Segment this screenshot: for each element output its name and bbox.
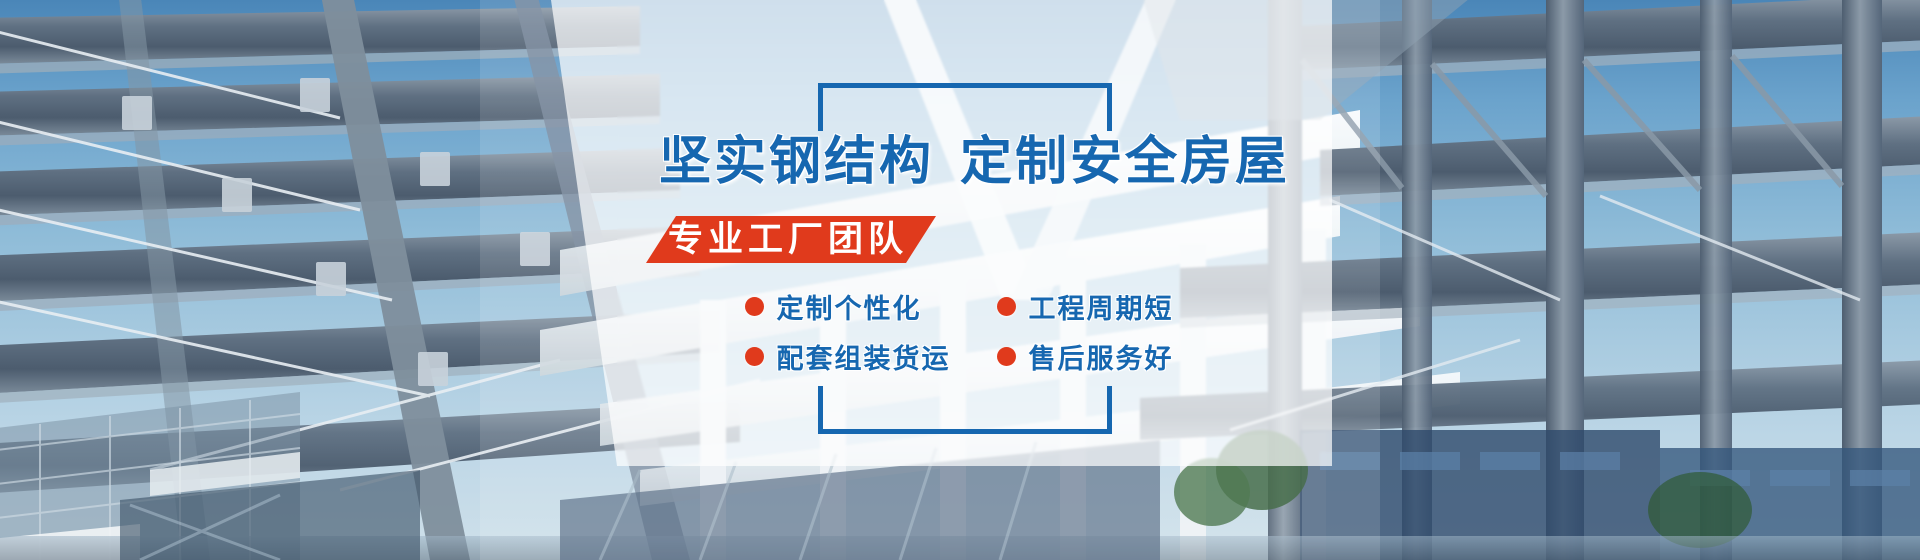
red-dot-icon (745, 297, 764, 316)
red-dot-icon (745, 347, 764, 366)
headline-part-1: 坚实钢结构 (659, 133, 934, 191)
bracket-bottom-decoration (818, 386, 1112, 434)
feature-item: 售后服务好 (997, 333, 1227, 379)
ribbon-badge: 专业工厂团队 (646, 216, 936, 263)
headline-part-2: 定制安全房屋 (960, 133, 1290, 191)
feature-label: 工程周期短 (1029, 287, 1174, 326)
feature-label: 定制个性化 (777, 287, 922, 326)
feature-list: 定制个性化 工程周期短 配套组装货运 售后服务好 (617, 283, 1332, 379)
red-dot-icon (997, 297, 1016, 316)
feature-item: 定制个性化 (745, 283, 975, 329)
hero-banner: 坚实钢结构定制安全房屋 专业工厂团队 定制个性化 工程周期短 配套组装货运 售后… (0, 0, 1920, 560)
feature-label: 配套组装货运 (777, 337, 951, 376)
bracket-top-decoration (818, 83, 1112, 131)
red-dot-icon (997, 347, 1016, 366)
ribbon-label: 专业工厂团队 (668, 216, 908, 263)
headline: 坚实钢结构定制安全房屋 (617, 132, 1332, 192)
feature-item: 配套组装货运 (745, 333, 975, 379)
feature-label: 售后服务好 (1029, 337, 1174, 376)
feature-item: 工程周期短 (997, 283, 1227, 329)
